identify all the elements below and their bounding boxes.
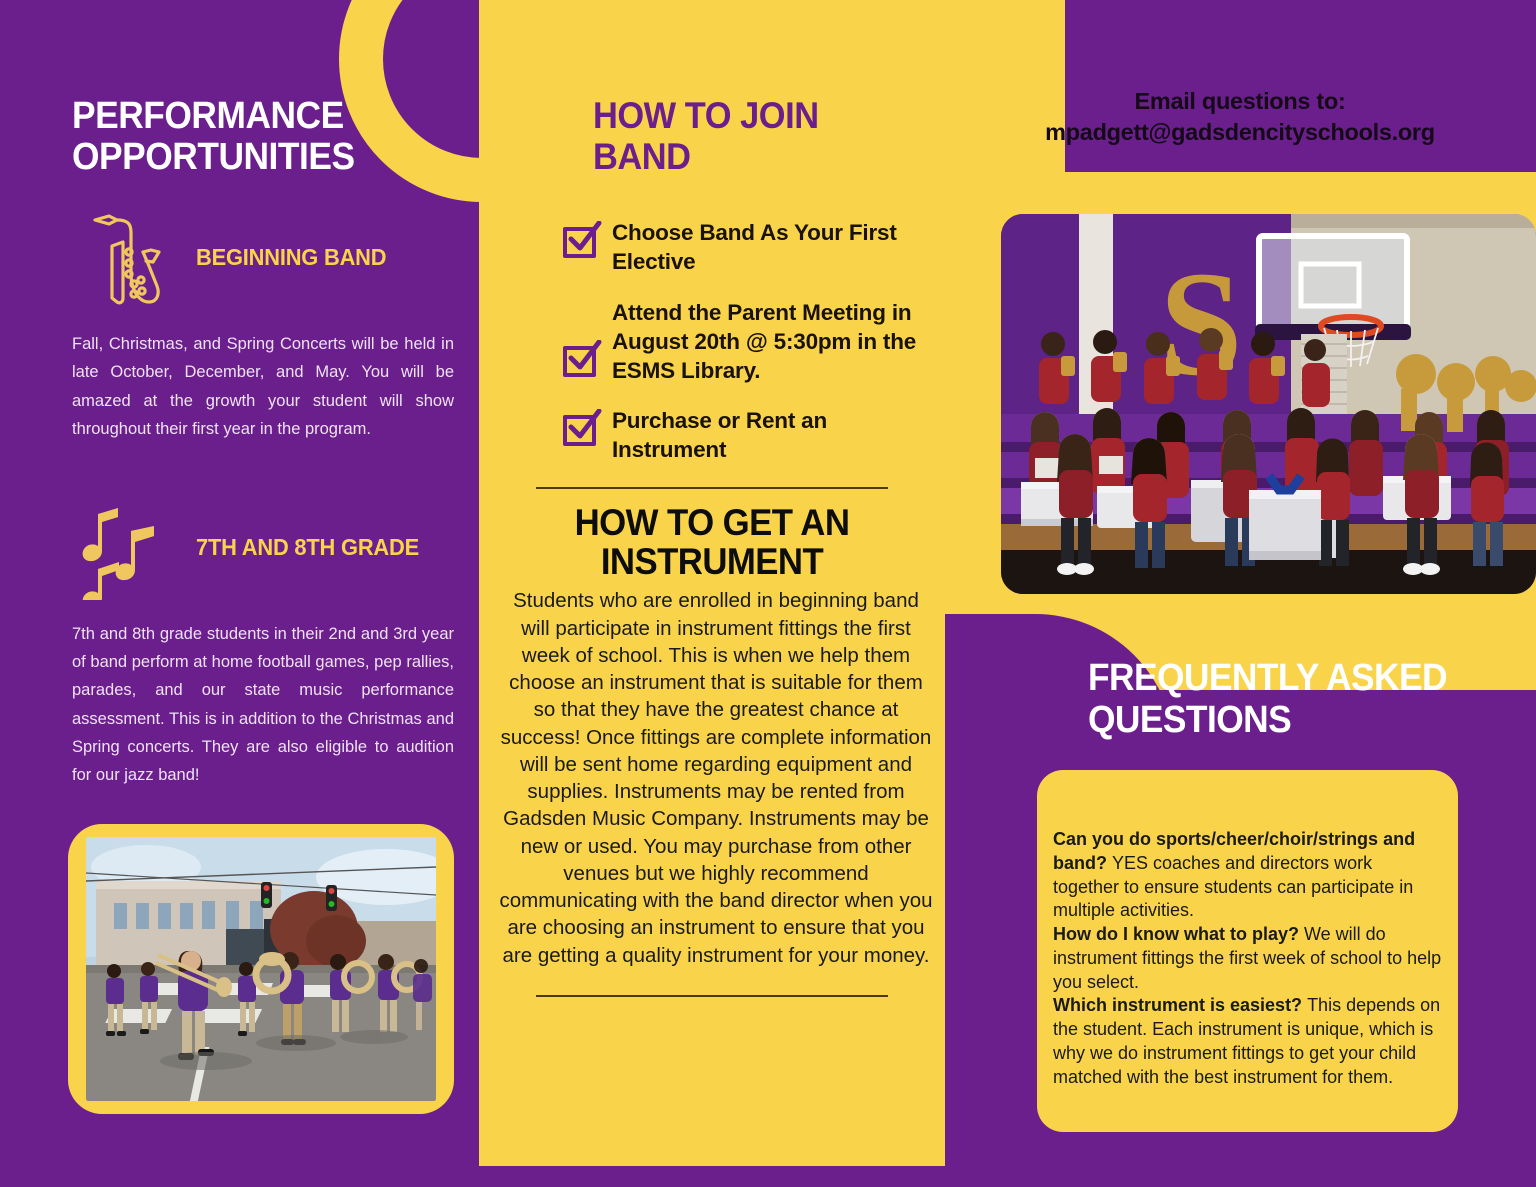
faq-question: How do I know what to play? xyxy=(1053,924,1304,944)
gym-photo-block: S xyxy=(945,172,1536,690)
grade-header-row: 7th and 8th Grade xyxy=(72,496,454,600)
checklist-item: Purchase or Rent an Instrument xyxy=(563,407,923,465)
checklist-item: Attend the Parent Meeting in August 20th… xyxy=(563,299,923,385)
grade-body: 7th and 8th grade students in their 2nd … xyxy=(72,620,454,790)
parade-photo xyxy=(86,837,436,1101)
beginning-band-header-row: Beginning Band xyxy=(72,206,454,310)
section-divider-top xyxy=(536,487,888,489)
section-divider-bottom xyxy=(536,995,888,997)
gym-photo-frame: S xyxy=(1001,214,1536,594)
checkbox-checked-icon[interactable] xyxy=(563,343,599,379)
faq-item: Which instrument is easiest? This depend… xyxy=(1053,995,1440,1086)
performance-opportunities-heading: Performance Opportunities xyxy=(72,96,427,178)
parade-photo-card xyxy=(68,824,454,1114)
faq-question: Which instrument is easiest? xyxy=(1053,995,1307,1015)
email-address[interactable]: mpadgett@gadsdencityschools.org xyxy=(960,117,1520,148)
checklist-item-label: Purchase or Rent an Instrument xyxy=(612,407,923,465)
checklist-item-label: Attend the Parent Meeting in August 20th… xyxy=(612,299,923,385)
how-to-get-instrument-heading: How to Get an Instrument xyxy=(510,503,914,581)
join-checklist: Choose Band As Your First Elective Atten… xyxy=(563,219,923,465)
grade-title: 7th and 8th Grade xyxy=(196,534,419,562)
faq-item: Can you do sports/cheer/choir/strings an… xyxy=(1053,829,1415,920)
faq-card: Can you do sports/cheer/choir/strings an… xyxy=(1037,770,1458,1132)
faq-item: How do I know what to play? We will do i… xyxy=(1053,924,1441,992)
instrument-body-text: Students who are enrolled in beginning b… xyxy=(497,587,935,969)
faq-list: Can you do sports/cheer/choir/strings an… xyxy=(1053,828,1442,1089)
checkbox-checked-icon[interactable] xyxy=(563,224,599,260)
brochure-page: Performance Opportunities xyxy=(0,0,1536,1187)
checklist-item-label: Choose Band As Your First Elective xyxy=(612,219,923,277)
how-to-join-band-heading: How to Join Band xyxy=(593,96,904,177)
center-column: How to Join Band Choose Band As Your Fir… xyxy=(479,0,945,1166)
left-column: Performance Opportunities xyxy=(72,96,454,790)
beginning-band-body: Fall, Christmas, and Spring Concerts wil… xyxy=(72,330,454,444)
music-notes-icon xyxy=(72,496,180,600)
email-block: Email questions to: mpadgett@gadsdencity… xyxy=(960,86,1520,148)
beginning-band-title: Beginning Band xyxy=(196,244,386,272)
gym-photo: S xyxy=(1001,214,1536,594)
saxophone-icon xyxy=(72,206,180,310)
faq-heading: Frequently Asked Questions xyxy=(1088,658,1488,742)
checkbox-checked-icon[interactable] xyxy=(563,412,599,448)
checklist-item: Choose Band As Your First Elective xyxy=(563,219,923,277)
email-label: Email questions to: xyxy=(960,86,1520,117)
